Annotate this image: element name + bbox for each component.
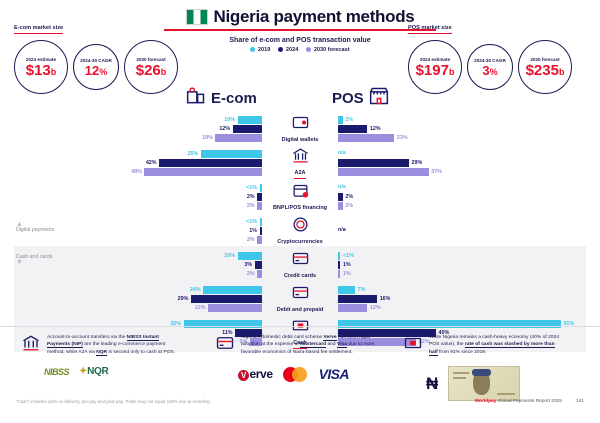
header: E-com market size 2024 estimate $13b 202… — [0, 0, 600, 95]
bar-fill — [338, 304, 367, 312]
bar: 22% — [195, 304, 262, 312]
row-label-text: Debit and prepaid — [277, 307, 323, 313]
row-label: Digital wallets — [266, 112, 334, 146]
stat-number: $13 — [26, 62, 51, 79]
worldpay-brand: Worldpay — [475, 399, 497, 404]
bar: 23% — [338, 134, 408, 142]
source-attribution: Worldpay Global Payments Report 2025 141 — [475, 399, 584, 404]
down-arrow-icon: ▼ — [16, 260, 52, 265]
cash-icon — [404, 334, 422, 357]
report-title: Global Payments Report 2025 — [498, 399, 562, 404]
bar: 48% — [131, 168, 262, 176]
bar-fill — [257, 236, 262, 244]
bar-na: n/a — [338, 227, 346, 235]
axis-note-digital-label: Digital payments — [16, 227, 54, 233]
bank-icon — [292, 147, 309, 169]
axis-note-digital: ▲ Digital payments — [16, 222, 54, 233]
bar: 2% — [338, 202, 353, 210]
row-label-text: Credit cards — [284, 273, 316, 279]
footnote-logos: NIBSS ✦NQR — [22, 366, 202, 377]
stat-unit: b — [161, 67, 167, 77]
storefront-icon — [369, 86, 389, 110]
pos-bars: 7%16%12% — [338, 284, 588, 314]
row-label-text: Cryptocurrencies — [277, 239, 323, 245]
bar-fill — [257, 270, 262, 278]
bar-fill — [233, 125, 262, 133]
bar-fill — [257, 202, 262, 210]
bar-fill — [338, 261, 340, 269]
bar-fill — [338, 159, 409, 167]
chart-legend: 2019 2024 2030 forecast — [150, 47, 450, 53]
bar-fill — [260, 218, 262, 226]
bar-value: <1% — [343, 253, 354, 259]
bar-value: 2% — [247, 271, 255, 277]
bar: <1% — [338, 252, 354, 260]
axis-note-cash: Cash and cards ▼ — [16, 254, 52, 265]
chart-row: <1%2%2%BNPL/POS financingn/a2%2% — [0, 180, 600, 214]
row-label: BNPL/POS financing — [266, 180, 334, 214]
ecom-bars: 24%29%22% — [14, 284, 262, 314]
pos-market-size-group: POS market size 2024 estimate $197b 2024… — [408, 16, 572, 94]
bar-fill — [215, 134, 262, 142]
row-label-text: Digital wallets — [282, 137, 319, 143]
ecom-bars: 25%42%48% — [14, 148, 262, 178]
legend-item-2024: 2024 — [278, 47, 298, 53]
bar-value: 23% — [397, 135, 408, 141]
bar-value: 10% — [224, 253, 235, 259]
bar-value: 2% — [345, 203, 353, 209]
bar: <1% — [246, 218, 262, 226]
title-underline — [164, 29, 436, 31]
bar: 10% — [224, 252, 262, 260]
bar-fill — [201, 150, 262, 158]
bar: 29% — [178, 295, 262, 303]
stat-number: $235 — [526, 62, 559, 79]
page-title: Nigeria payment methods — [214, 8, 415, 25]
ecom-market-size-label: E-com market size — [14, 25, 63, 34]
bar-value: <1% — [246, 185, 257, 191]
stat-value: 12% — [85, 64, 107, 77]
bar: 19% — [202, 134, 262, 142]
bar: 2% — [338, 193, 353, 201]
bar-value: 12% — [370, 305, 381, 311]
card-icon — [292, 250, 309, 272]
shopping-bag-icon — [186, 86, 206, 110]
bar: 29% — [338, 159, 422, 167]
bar: 24% — [190, 286, 262, 294]
bar-fill — [338, 295, 377, 303]
bar-fill — [338, 252, 340, 260]
legend-item-2030: 2030 forecast — [306, 47, 349, 53]
pos-bars: n/a29%37% — [338, 148, 588, 178]
bar-fill — [257, 193, 262, 201]
bnpl-icon — [292, 182, 309, 204]
bar-value: 12% — [219, 126, 230, 132]
pos-bars: 2%12%23% — [338, 114, 588, 144]
row-label: Credit cards — [266, 248, 334, 282]
chart-row: 24%29%22%Debit and prepaid7%16%12% — [0, 282, 600, 316]
legend-label: 2024 — [286, 47, 298, 53]
bar-na: n/a — [338, 150, 346, 158]
bar: 10% — [224, 116, 262, 124]
column-label-ecom: E-com — [211, 90, 257, 107]
bar: 1% — [249, 227, 262, 235]
stat-unit: b — [51, 67, 57, 77]
chart-subtitle: Share of e-com and POS transaction value — [150, 37, 450, 44]
stat-value: $26b — [136, 63, 167, 78]
bar: 37% — [338, 168, 442, 176]
bar-value: 29% — [412, 160, 423, 166]
stat-unit: b — [559, 67, 565, 77]
bar-value: 3% — [244, 262, 252, 268]
ecom-bars: <1%2%2% — [14, 182, 262, 212]
chart-row: 10%3%2%Credit cards<1%1%1% — [0, 248, 600, 282]
nigeria-flag-icon — [186, 9, 208, 25]
bar-value: <1% — [246, 219, 257, 225]
legend-swatch — [278, 47, 283, 52]
bar-value: 1% — [249, 228, 257, 234]
bar-fill — [260, 227, 262, 235]
stat-circle: 2024-30 CAGR 3% — [467, 44, 513, 90]
bar-fill — [238, 252, 263, 260]
stat-value: $197b — [416, 63, 455, 78]
bar-fill — [338, 116, 343, 124]
bar: <1% — [246, 184, 262, 192]
row-label: Cryptocurrencies — [266, 214, 334, 248]
chart-row: 10%12%19%Digital wallets2%12%23% — [0, 112, 600, 146]
bar: 2% — [247, 270, 262, 278]
bar: 12% — [219, 125, 262, 133]
bar-value: 2% — [247, 237, 255, 243]
bar-fill — [338, 193, 343, 201]
legend-label: 2019 — [258, 47, 270, 53]
bar-value: 25% — [187, 151, 198, 157]
column-label-pos: POS — [332, 90, 364, 107]
crypto-icon — [292, 216, 309, 238]
verve-logo: Verve — [238, 367, 273, 381]
pos-bars: n/a2%2% — [338, 182, 588, 212]
bar-value: 2% — [247, 203, 255, 209]
mastercard-logo — [283, 367, 309, 382]
bar-value: 2% — [345, 117, 353, 123]
row-label: Debit and prepaid — [266, 282, 334, 316]
bar: 7% — [338, 286, 365, 294]
bar-fill — [203, 286, 262, 294]
card-icon — [216, 334, 234, 357]
bar: 2% — [247, 202, 262, 210]
bar-fill — [260, 184, 262, 192]
card-icon — [292, 284, 309, 306]
legend-swatch — [250, 47, 255, 52]
stat-unit: % — [99, 67, 107, 77]
ecom-bars: 10%12%19% — [14, 114, 262, 144]
bar-fill — [338, 125, 367, 133]
bar: 2% — [247, 193, 262, 201]
infographic-page: E-com market size 2024 estimate $13b 202… — [0, 0, 600, 423]
bar-value: 7% — [358, 287, 366, 293]
report-credit: Worldpay Global Payments Report 2025 — [475, 399, 562, 404]
stat-circle: 2024-30 CAGR 12% — [73, 44, 119, 90]
bar-value: 48% — [131, 169, 142, 175]
payment-methods-chart: E-com POS 10%12%19%Digital wallets2%12%2… — [0, 86, 600, 326]
bar: 1% — [338, 261, 351, 269]
row-label-text: BNPL/POS financing — [273, 205, 327, 211]
bar-value: 16% — [380, 296, 391, 302]
footnote-logos: ₦ — [404, 366, 584, 401]
stat-value: $235b — [526, 63, 565, 78]
row-label: A2A — [266, 146, 334, 180]
bar-value: 42% — [146, 160, 157, 166]
source-line: “Cash” includes cash on delivery, pre-pa… — [0, 399, 600, 404]
footnote-text: Account-to-account transfers via the NIB… — [47, 334, 182, 357]
pos-bars: <1%1%1% — [338, 250, 588, 280]
bar-value: 1% — [343, 262, 351, 268]
stat-number: $197 — [416, 62, 449, 79]
naira-symbol-icon: ₦ — [426, 374, 438, 394]
bar: 3% — [244, 261, 262, 269]
bar: 12% — [338, 304, 381, 312]
stat-value: $13b — [26, 63, 57, 78]
bar-value: 10% — [224, 117, 235, 123]
pos-bars: n/a — [338, 216, 588, 246]
bar-value: 19% — [202, 135, 213, 141]
bar-value: 1% — [343, 271, 351, 277]
footnote-logos: Verve VISA — [216, 366, 396, 382]
bar-value: 29% — [178, 296, 189, 302]
bar: 2% — [247, 236, 262, 244]
bar: 12% — [338, 125, 381, 133]
bar: 2% — [338, 116, 353, 124]
chart-rows: 10%12%19%Digital wallets2%12%23%25%42%48… — [0, 112, 600, 350]
column-header-pos: POS — [332, 86, 389, 110]
source-note: “Cash” includes cash on delivery, pre-pa… — [16, 399, 211, 404]
bar-fill — [338, 168, 429, 176]
bar-value: 37% — [431, 169, 442, 175]
bar-fill — [338, 134, 394, 142]
bar-na: n/a — [338, 184, 346, 192]
bar-fill — [255, 261, 262, 269]
legend-swatch — [306, 47, 311, 52]
naira-banknote-image — [448, 366, 520, 401]
title-block: Nigeria payment methods Share of e-com a… — [150, 8, 450, 53]
bar-value: 24% — [190, 287, 201, 293]
stat-caption: 2024-30 CAGR — [474, 58, 506, 63]
stat-unit: % — [490, 67, 498, 77]
visa-logo: VISA — [319, 366, 349, 382]
bar-fill — [338, 202, 343, 210]
footnotes: Account-to-account transfers via the NIB… — [0, 326, 600, 397]
bar-fill — [338, 286, 355, 294]
bar-value: 22% — [195, 305, 206, 311]
footnote-text: Nigeria's domestic debit card scheme Ver… — [241, 334, 376, 357]
stat-number: 12 — [85, 63, 99, 78]
bar-fill — [208, 304, 262, 312]
wallet-icon — [292, 114, 309, 136]
chart-row: <1%1%2%Cryptocurrenciesn/a — [0, 214, 600, 248]
bar-value: 12% — [370, 126, 381, 132]
stat-number: $26 — [136, 62, 161, 79]
stat-value: 3% — [482, 64, 497, 77]
bar-fill — [159, 159, 262, 167]
footnote-card-cards: Nigeria's domestic debit card scheme Ver… — [216, 334, 396, 382]
bar-fill — [144, 168, 262, 176]
bar: 42% — [146, 159, 262, 167]
bar: 25% — [187, 150, 262, 158]
nibss-logo: NIBSS — [44, 367, 69, 377]
column-header-ecom: E-com — [186, 86, 257, 110]
bank-icon — [22, 334, 40, 357]
bar-value: 2% — [247, 194, 255, 200]
bar-value: 2% — [345, 194, 353, 200]
bar: 1% — [338, 270, 351, 278]
bar-fill — [238, 116, 263, 124]
footnote-card-a2a: Account-to-account transfers via the NIB… — [22, 334, 202, 377]
chart-row: 25%42%48%A2An/a29%37% — [0, 146, 600, 180]
bar-fill — [338, 270, 340, 278]
row-label-text: A2A — [294, 170, 305, 178]
stat-unit: b — [449, 67, 455, 77]
footnote-card-cash: While Nigeria remains a cash-heavy econo… — [404, 334, 584, 401]
bar-fill — [191, 295, 262, 303]
legend-label: 2030 forecast — [314, 47, 350, 53]
stat-number: 3 — [482, 63, 489, 78]
bar: 16% — [338, 295, 390, 303]
nqr-logo: ✦NQR — [79, 366, 108, 377]
page-number: 141 — [576, 399, 584, 404]
legend-item-2019: 2019 — [250, 47, 270, 53]
pos-market-size-label: POS market size — [408, 25, 452, 34]
footnote-text: While Nigeria remains a cash-heavy econo… — [429, 334, 564, 357]
